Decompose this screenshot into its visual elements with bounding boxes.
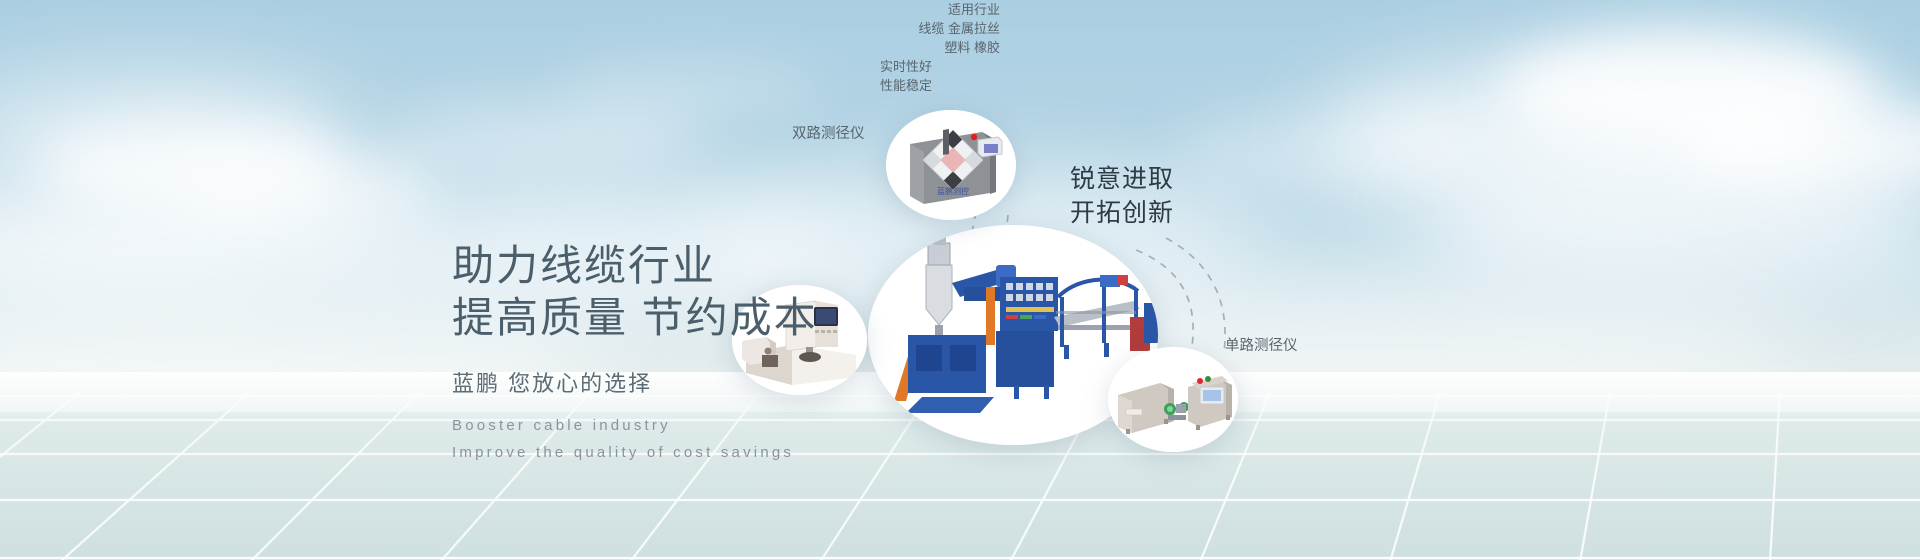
slogan-line-2: 开拓创新 <box>1070 196 1174 230</box>
slogan-line-1: 锐意进取 <box>1070 162 1174 196</box>
bubble-dual-gauge[interactable]: 蓝鹏测控 <box>886 110 1016 220</box>
performance-line-1: 实时性好 <box>880 57 1920 76</box>
headline-line-1: 助力线缆行业 <box>452 240 818 292</box>
industry-title: 适用行业 <box>880 0 1000 19</box>
subtitle-english-line-2: Improve the quality of cost savings <box>452 439 818 466</box>
dual-gauge-illustration: 蓝鹏测控 <box>886 110 1016 220</box>
performance-line-2: 性能稳定 <box>880 76 1920 95</box>
label-dual-gauge: 双路测径仪 <box>792 124 865 145</box>
label-single-gauge: 单路测径仪 <box>1225 336 1298 357</box>
promo-banner: 助力线缆行业 提高质量 节约成本 蓝鹏 您放心的选择 Booster cable… <box>0 0 1920 560</box>
product-composition: 蓝鹏测控 <box>880 0 1920 560</box>
slogan-block: 锐意进取 开拓创新 <box>1070 162 1174 230</box>
industry-line-1: 线缆 金属拉丝 <box>880 19 1000 38</box>
subtitle-english-line-1: Booster cable industry <box>452 412 818 439</box>
subtitle-chinese: 蓝鹏 您放心的选择 <box>452 366 818 398</box>
label-performance-block: 实时性好 性能稳定 <box>880 57 1920 95</box>
headline-block: 助力线缆行业 提高质量 节约成本 蓝鹏 您放心的选择 Booster cable… <box>452 240 818 466</box>
label-industry-block: 适用行业 线缆 金属拉丝 塑料 橡胶 <box>880 0 1000 57</box>
industry-line-2: 塑料 橡胶 <box>880 38 1000 57</box>
dual-gauge-brand-text: 蓝鹏测控 <box>937 186 969 196</box>
bubble-single-gauge[interactable] <box>1108 347 1238 452</box>
headline-line-2: 提高质量 节约成本 <box>452 292 818 344</box>
single-gauge-illustration <box>1108 347 1238 452</box>
